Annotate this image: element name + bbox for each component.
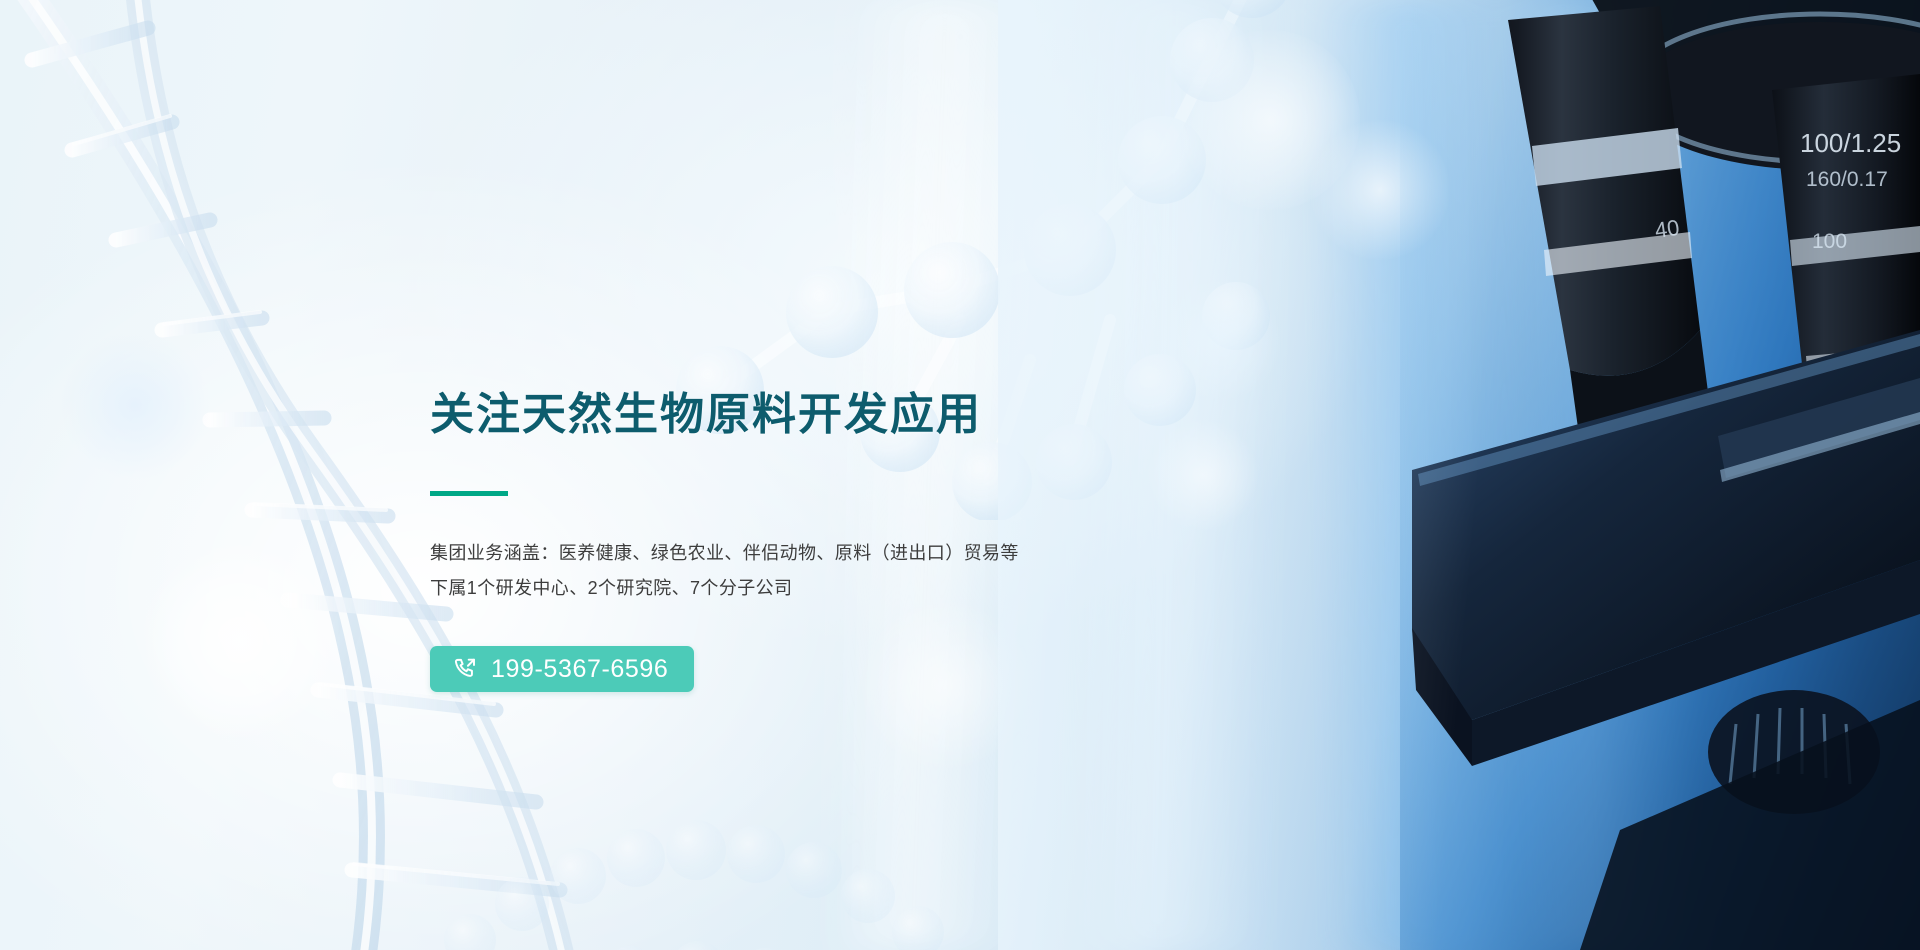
description-line: 集团业务涵盖：医养健康、绿色农业、伴侣动物、原料（进出口）贸易等: [430, 536, 1190, 571]
description-line: 下属1个研发中心、2个研究院、7个分子公司: [430, 571, 1190, 606]
phone-call-button[interactable]: 199-5367-6596: [430, 646, 694, 692]
hero-banner: 40 100/1.25 160/0.17 100: [0, 0, 1920, 950]
svg-text:100/1.25: 100/1.25: [1800, 128, 1901, 158]
hero-description: 集团业务涵盖：医养健康、绿色农业、伴侣动物、原料（进出口）贸易等 下属1个研发中…: [430, 536, 1190, 606]
page-title: 关注天然生物原料开发应用: [430, 390, 1190, 439]
dna-strand-lower-decoration: [430, 690, 990, 950]
outgoing-call-icon: [452, 656, 478, 682]
hero-content: 关注天然生物原料开发应用 集团业务涵盖：医养健康、绿色农业、伴侣动物、原料（进出…: [430, 390, 1190, 692]
svg-text:40: 40: [1653, 215, 1681, 243]
phone-number-label: 199-5367-6596: [491, 655, 668, 684]
title-divider: [430, 491, 508, 496]
svg-text:100: 100: [1812, 230, 1847, 253]
svg-text:160/0.17: 160/0.17: [1806, 168, 1888, 191]
microscope-decoration: 40 100/1.25 160/0.17 100: [1100, 0, 1920, 950]
